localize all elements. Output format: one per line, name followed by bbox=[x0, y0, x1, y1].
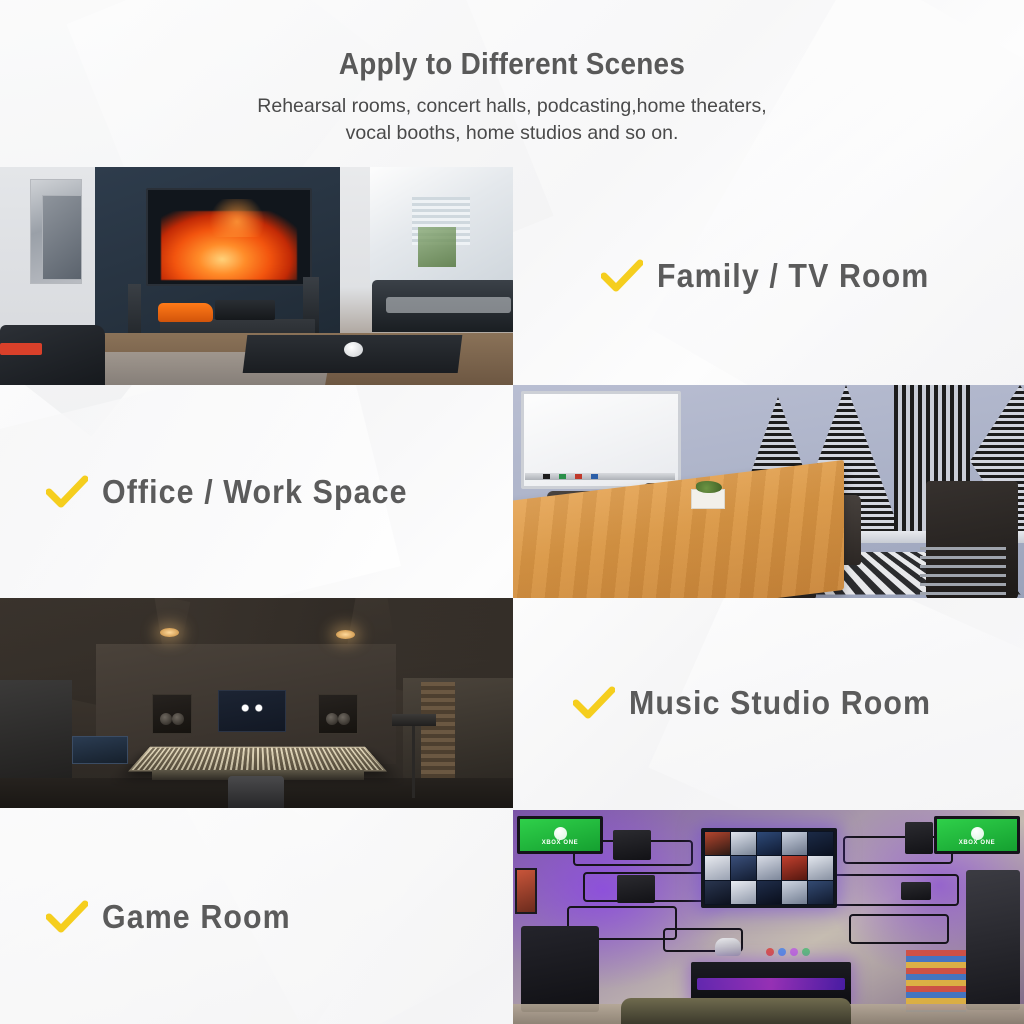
page-subtitle: Rehearsal rooms, concert halls, podcasti… bbox=[0, 93, 1024, 147]
header: Apply to Different Scenes Rehearsal room… bbox=[0, 0, 1024, 167]
scene-label-cell-game: Game Room bbox=[0, 810, 513, 1024]
subtitle-line-1: Rehearsal rooms, concert halls, podcasti… bbox=[0, 93, 1024, 120]
scene-image-music-studio bbox=[0, 598, 513, 808]
scene-label-cell-family-tv: Family / TV Room bbox=[513, 167, 1024, 385]
scene-label-game: Game Room bbox=[102, 898, 291, 936]
check-icon bbox=[573, 686, 615, 720]
xbox-screen-left: XBOX ONE bbox=[517, 816, 603, 854]
scene-image-game: XBOX ONE XBOX ONE bbox=[513, 810, 1024, 1024]
scene-label-office: Office / Work Space bbox=[102, 473, 408, 511]
page-root: Apply to Different Scenes Rehearsal room… bbox=[0, 0, 1024, 1024]
scene-row-music-studio: Music Studio Room bbox=[0, 598, 1024, 808]
page-title: Apply to Different Scenes bbox=[51, 46, 973, 82]
xbox-screen-right: XBOX ONE bbox=[934, 816, 1020, 854]
scene-label-family-tv: Family / TV Room bbox=[657, 257, 929, 295]
scene-row-office: Office / Work Space bbox=[0, 385, 1024, 598]
scene-label-cell-music-studio: Music Studio Room bbox=[513, 598, 1024, 808]
scene-label-cell-office: Office / Work Space bbox=[0, 385, 513, 598]
scene-label-music-studio: Music Studio Room bbox=[629, 684, 931, 722]
check-icon bbox=[46, 900, 88, 934]
check-icon bbox=[46, 475, 88, 509]
scene-row-game: Game Room bbox=[0, 810, 1024, 1024]
scene-image-office bbox=[513, 385, 1024, 598]
scene-row-family-tv: Family / TV Room bbox=[0, 167, 1024, 385]
game-tv-screen bbox=[701, 828, 837, 908]
check-icon bbox=[601, 259, 643, 293]
scene-image-family-tv bbox=[0, 167, 513, 385]
subtitle-line-2: vocal booths, home studios and so on. bbox=[0, 120, 1024, 147]
